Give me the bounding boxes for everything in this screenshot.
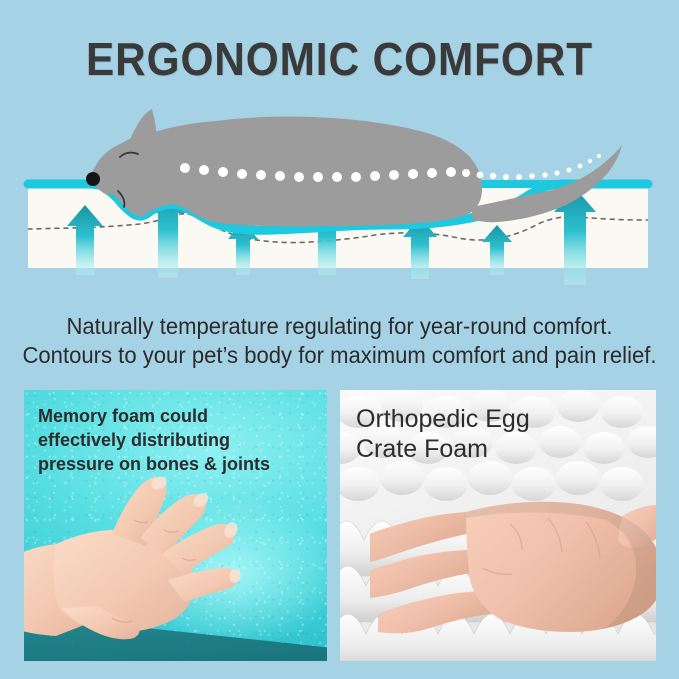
hand-on-egg-crate-foam xyxy=(370,472,656,642)
hero-illustration xyxy=(0,95,679,310)
panel-egg-crate-foam-caption: Orthopedic Egg Crate Foam xyxy=(356,404,530,464)
caption-line: effectively distributing xyxy=(38,428,270,452)
page-title: ERGONOMIC COMFORT xyxy=(27,32,652,86)
panel-memory-foam-caption: Memory foam could effectively distributi… xyxy=(38,404,270,476)
body-copy-line-1: Naturally temperature regulating for yea… xyxy=(14,312,666,341)
infographic-page: ERGONOMIC COMFORT xyxy=(0,0,679,679)
panel-memory-foam: Memory foam could effectively distributi… xyxy=(24,390,327,661)
caption-line: pressure on bones & joints xyxy=(38,452,270,476)
pet-nose xyxy=(86,172,100,186)
caption-line: Orthopedic Egg xyxy=(356,404,530,434)
caption-line: Crate Foam xyxy=(356,434,530,464)
caption-line: Memory foam could xyxy=(38,404,270,428)
panel-egg-crate-foam: Orthopedic Egg Crate Foam xyxy=(340,390,656,661)
body-copy-line-2: Contours to your pet’s body for maximum … xyxy=(14,341,666,370)
body-copy: Naturally temperature regulating for yea… xyxy=(14,312,666,370)
hand-on-memory-foam xyxy=(24,468,286,661)
pet-body xyxy=(92,117,483,227)
